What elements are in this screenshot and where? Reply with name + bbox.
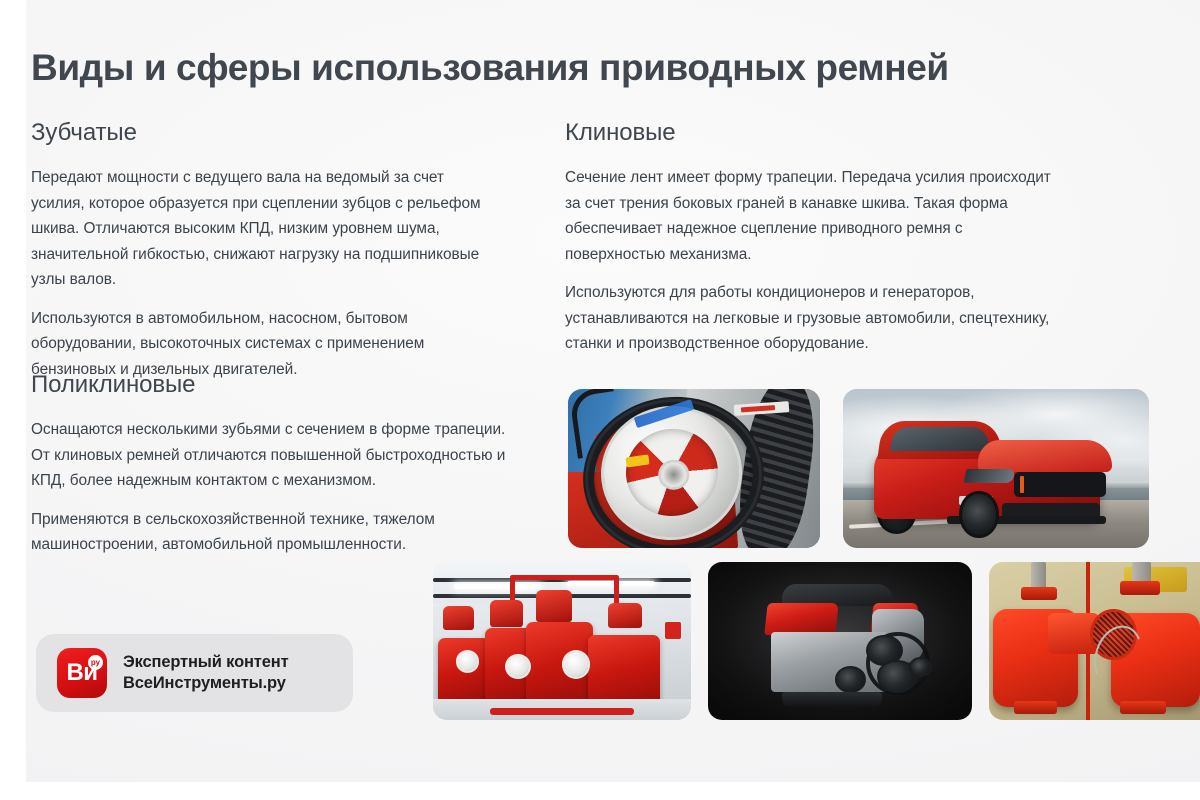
photo-scene — [433, 562, 691, 720]
photo-sports-car — [843, 389, 1149, 548]
photo-scene — [568, 389, 820, 548]
logo-tld-badge: ру — [88, 655, 103, 670]
section-paragraph: Сечение лент имеет форму трапеции. Перед… — [565, 165, 1065, 267]
section-klinovye: Клиновые Сечение лент имеет форму трапец… — [565, 118, 1065, 357]
photo-scene — [989, 562, 1200, 720]
photo-scene — [843, 389, 1149, 548]
brand-badge[interactable]: Ви ру Экспертный контент ВсеИнструменты.… — [36, 634, 353, 712]
section-paragraph: Оснащаются несколькими зубьями с сечение… — [31, 417, 521, 494]
vseinstrumenty-logo-icon: Ви ру — [57, 648, 107, 698]
page-title: Виды и сферы использования приводных рем… — [31, 46, 1151, 90]
section-zubchatye: Зубчатые Передают мощности с ведущего ва… — [31, 118, 501, 382]
brand-text: Экспертный контент ВсеИнструменты.ру — [123, 652, 289, 694]
section-heading-klinovye: Клиновые — [565, 118, 1065, 148]
section-paragraph: Применяются в сельскохозяйственной техни… — [31, 507, 521, 558]
section-poliklinovye: Поликлиновые Оснащаются несколькими зубь… — [31, 370, 521, 558]
photo-red-pumps — [989, 562, 1200, 720]
brand-line-1: Экспертный контент — [123, 652, 289, 673]
brand-line-2: ВсеИнструменты.ру — [123, 673, 289, 694]
photo-pump-station — [433, 562, 691, 720]
section-paragraph: Передают мощности с ведущего вала на вед… — [31, 165, 501, 293]
photo-pulley-belt — [568, 389, 820, 548]
section-heading-zubchatye: Зубчатые — [31, 118, 501, 148]
photo-v8-engine — [708, 562, 972, 720]
section-paragraph: Используются для работы кондиционеров и … — [565, 280, 1065, 357]
photo-scene — [708, 562, 972, 720]
infographic-page: Виды и сферы использования приводных рем… — [0, 0, 1200, 800]
section-heading-poliklinovye: Поликлиновые — [31, 370, 521, 400]
